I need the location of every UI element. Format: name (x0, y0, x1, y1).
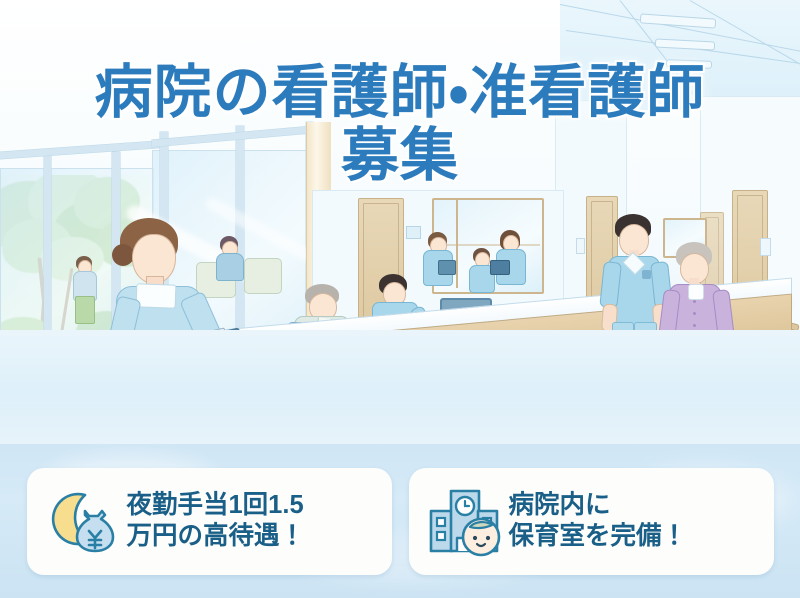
hospital-illustration (0, 0, 800, 450)
hospital-baby-icon (423, 481, 509, 561)
badge-night-duty-allowance[interactable]: 夜勤手当1回1.5 万円の高待遇！ (27, 468, 392, 575)
moon-money-bag-icon (41, 481, 127, 561)
badge-nursery-line-1: 病院内に (509, 491, 611, 519)
badge-onsite-nursery[interactable]: 病院内に 保育室を完備！ (409, 468, 774, 575)
ceiling-light-icon (666, 59, 712, 69)
badge-night-duty-line-2: 万円の高待遇！ (127, 521, 306, 552)
benefit-badges: 夜勤手当1回1.5 万円の高待遇！ (0, 444, 800, 598)
badge-nursery-line-2: 保育室を完備！ (509, 521, 688, 552)
badge-night-duty-line-1: 夜勤手当1回1.5 (127, 491, 304, 519)
badge-nursery-text: 病院内に 保育室を完備！ (509, 490, 688, 552)
badge-night-duty-text: 夜勤手当1回1.5 万円の高待遇！ (127, 490, 306, 552)
recruitment-poster: 病院の看護師・准看護師 募集 夜勤手当1回1.5 万円の高 (0, 0, 800, 598)
